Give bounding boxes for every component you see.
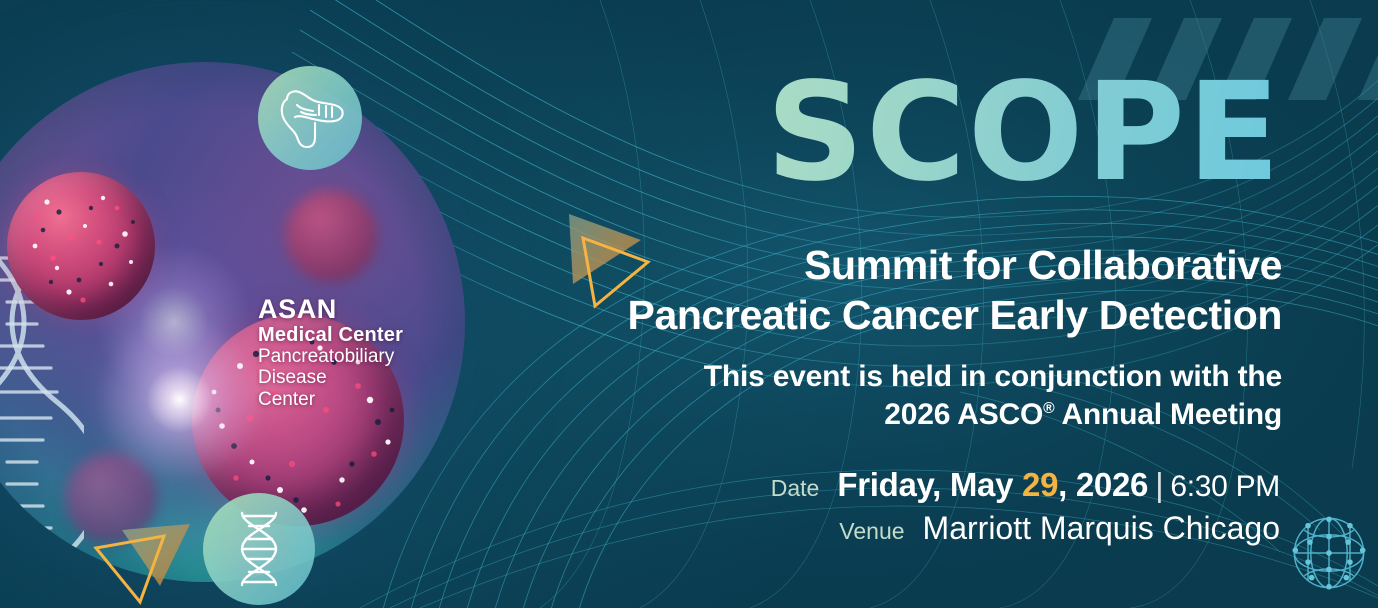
page-title: SCOPE xyxy=(766,74,1282,194)
asan-logo-line2: Medical Center xyxy=(258,324,403,346)
asan-logo-line1: ASAN xyxy=(258,295,403,324)
date-value: Friday, May 29, 2026|6:30 PM xyxy=(837,466,1280,504)
headline-line-1: Summit for Collaborative xyxy=(482,240,1282,290)
event-banner: ASAN Medical Center Pancreatobiliary Dis… xyxy=(0,0,1378,608)
asco-meeting-prefix: 2026 ASCO xyxy=(884,398,1043,431)
asan-logo-line5: Center xyxy=(258,389,403,410)
subheadline-line-1: This event is held in conjunction with t… xyxy=(482,358,1282,396)
headline-line-2: Pancreatic Cancer Early Detection xyxy=(482,290,1282,340)
venue-value: Marriott Marquis Chicago xyxy=(923,510,1280,547)
cell-sphere-secondary xyxy=(7,172,155,320)
banner-text-content: SCOPE Summit for Collaborative Pancreati… xyxy=(482,0,1282,608)
fullerene-molecule-icon xyxy=(1288,512,1370,594)
date-label: Date xyxy=(733,475,819,502)
venue-label: Venue xyxy=(819,518,905,545)
event-details: Date Friday, May 29, 2026|6:30 PM Venue … xyxy=(480,466,1280,553)
date-year: , 2026 xyxy=(1058,466,1148,503)
date-weekday-month: Friday, May xyxy=(837,466,1022,503)
asan-logo-line4: Disease xyxy=(258,367,403,388)
triangle-decoration-left xyxy=(78,518,210,608)
date-row: Date Friday, May 29, 2026|6:30 PM xyxy=(480,466,1280,504)
venue-row: Venue Marriott Marquis Chicago xyxy=(480,510,1280,547)
date-time-separator: | xyxy=(1155,466,1163,503)
blurred-cell-sphere xyxy=(285,190,377,282)
dna-badge xyxy=(203,493,315,605)
asco-meeting-suffix: Annual Meeting xyxy=(1054,398,1282,431)
headline-block: Summit for Collaborative Pancreatic Canc… xyxy=(482,240,1282,340)
lens-flare xyxy=(177,397,181,401)
cell-granules xyxy=(7,172,155,320)
registered-mark: ® xyxy=(1043,400,1054,417)
date-day: 29 xyxy=(1022,466,1058,503)
pancreas-badge xyxy=(258,66,362,170)
subheadline-block: This event is held in conjunction with t… xyxy=(482,358,1282,434)
pancreas-icon xyxy=(271,79,349,157)
dna-helix-icon xyxy=(224,509,294,589)
event-time: 6:30 PM xyxy=(1170,470,1280,503)
subheadline-line-2: 2026 ASCO® Annual Meeting xyxy=(482,396,1282,434)
asan-logo-lockup: ASAN Medical Center Pancreatobiliary Dis… xyxy=(258,295,403,410)
asan-logo-line3: Pancreatobiliary xyxy=(258,346,403,367)
